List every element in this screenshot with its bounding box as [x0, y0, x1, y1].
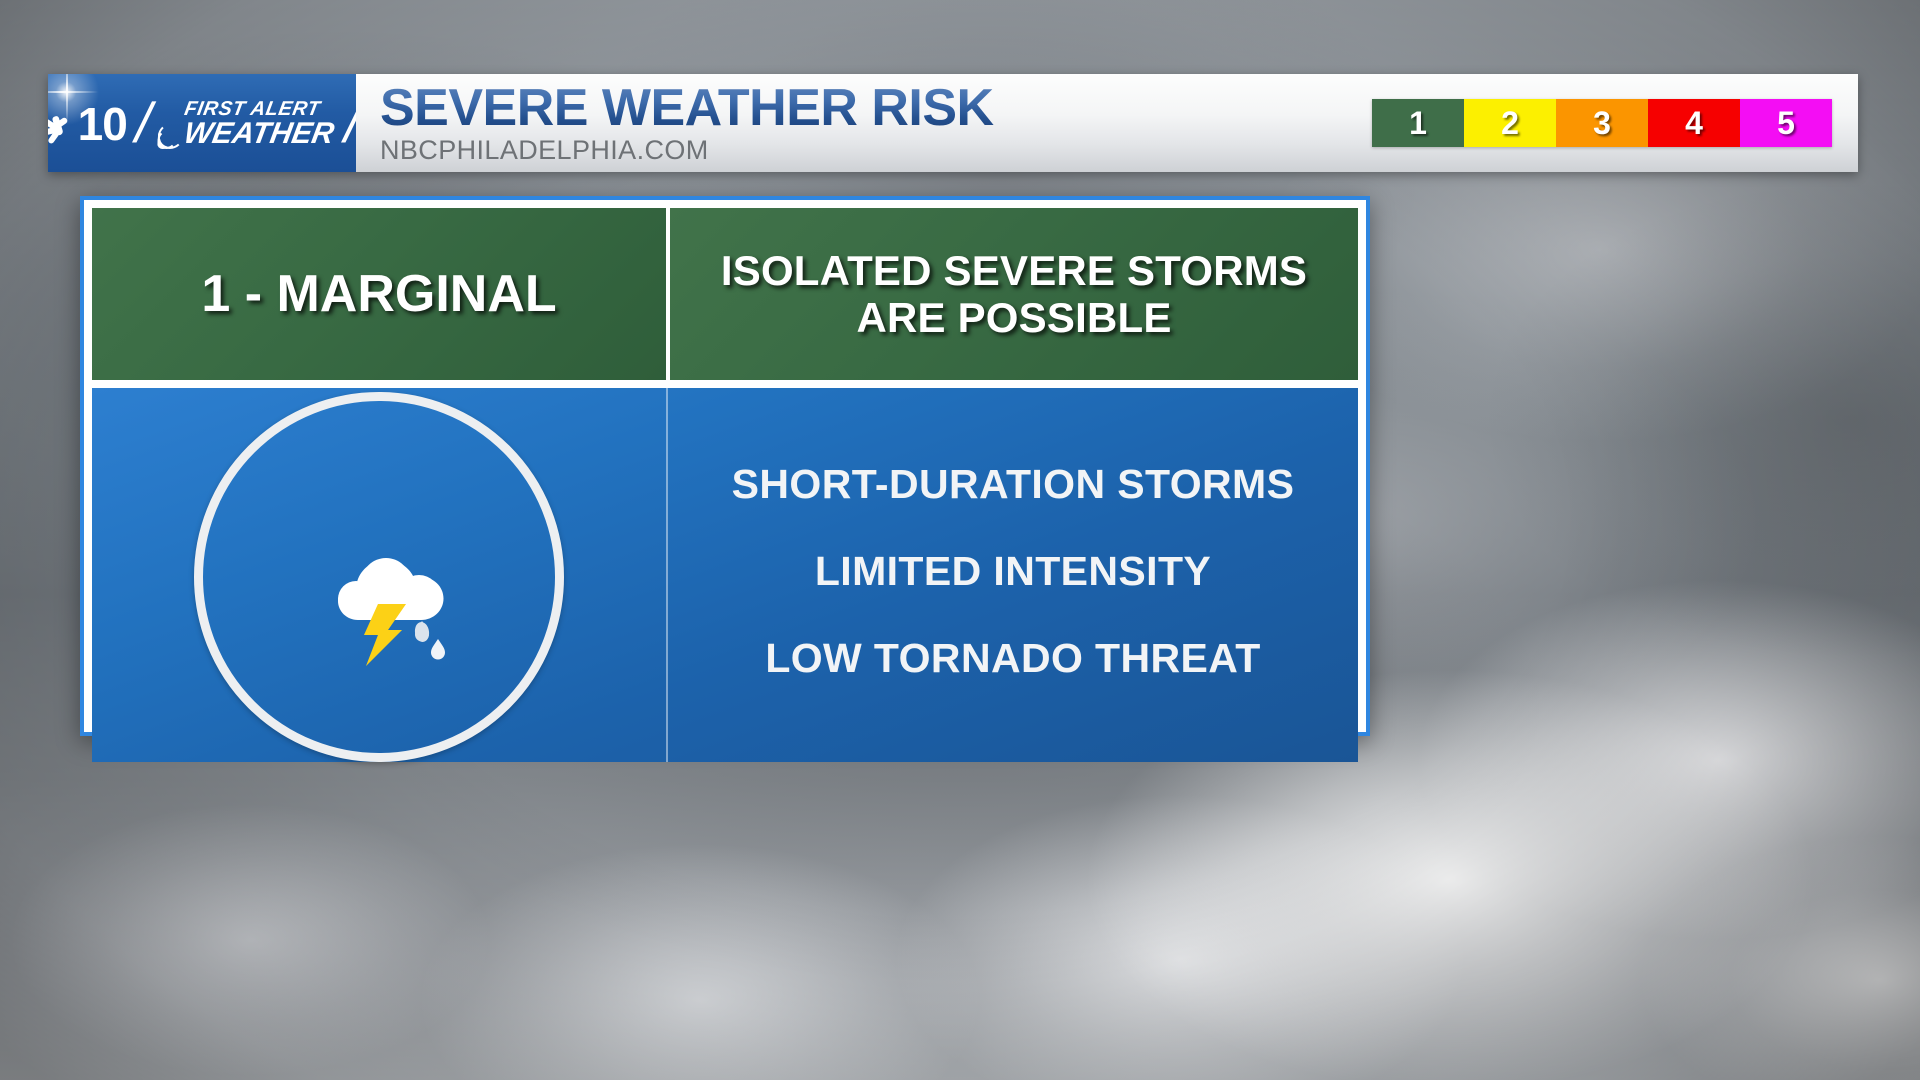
- icon-circle-frame: [194, 392, 564, 762]
- card-horizontal-divider: [92, 380, 1358, 388]
- weather-label: WEATHER: [182, 119, 337, 149]
- risk-description-line2: ARE POSSIBLE: [856, 294, 1171, 341]
- risk-scale-cell-3: 3: [1556, 99, 1648, 147]
- weather-graphic-stage: 10 / FIRST ALERT WEATHER / SEVERE WEATHE…: [0, 0, 1920, 1080]
- risk-bullet: LIMITED INTENSITY: [815, 548, 1211, 595]
- page-title: SEVERE WEATHER RISK: [380, 82, 994, 134]
- channel-number: 10: [78, 101, 127, 147]
- site-url-label: NBCPHILADELPHIA.COM: [380, 137, 994, 164]
- icon-pane: [92, 388, 666, 762]
- risk-scale-cell-4: 4: [1648, 99, 1740, 147]
- risk-scale-cell-2: 2: [1464, 99, 1556, 147]
- severe-risk-card: 1 - MARGINAL ISOLATED SEVERE STORMS ARE …: [80, 196, 1370, 736]
- slash-left-icon: /: [130, 95, 157, 151]
- risk-bullet-list: SHORT-DURATION STORMSLIMITED INTENSITYLO…: [668, 388, 1358, 762]
- risk-level-pane: 1 - MARGINAL: [92, 208, 666, 380]
- risk-bullet: LOW TORNADO THREAT: [765, 635, 1260, 682]
- first-alert-label: FIRST ALERT: [161, 99, 340, 119]
- header-content: SEVERE WEATHER RISK NBCPHILADELPHIA.COM …: [356, 74, 1858, 172]
- nbc10-first-alert-weather-logo: 10 / FIRST ALERT WEATHER /: [48, 74, 356, 172]
- nbc-peacock-icon: [48, 114, 71, 144]
- risk-detail-section: SHORT-DURATION STORMSLIMITED INTENSITYLO…: [92, 388, 1358, 762]
- risk-scale-legend: 12345: [1372, 99, 1832, 147]
- risk-description-pane: ISOLATED SEVERE STORMS ARE POSSIBLE: [670, 208, 1358, 380]
- radar-arc-icon: [157, 125, 183, 149]
- risk-level-label: 1 - MARGINAL: [201, 264, 556, 324]
- risk-bullet: SHORT-DURATION STORMS: [732, 461, 1295, 508]
- risk-level-banner: 1 - MARGINAL ISOLATED SEVERE STORMS ARE …: [92, 208, 1358, 380]
- slash-right-icon: /: [339, 95, 356, 151]
- thunderstorm-icon: [314, 536, 464, 666]
- header-bar: 10 / FIRST ALERT WEATHER / SEVERE WEATHE…: [48, 74, 1858, 172]
- header-titles: SEVERE WEATHER RISK NBCPHILADELPHIA.COM: [380, 82, 994, 164]
- risk-description-line1: ISOLATED SEVERE STORMS: [721, 247, 1307, 294]
- risk-scale-cell-5: 5: [1740, 99, 1832, 147]
- risk-description-label: ISOLATED SEVERE STORMS ARE POSSIBLE: [721, 247, 1307, 341]
- risk-scale-cell-1: 1: [1372, 99, 1464, 147]
